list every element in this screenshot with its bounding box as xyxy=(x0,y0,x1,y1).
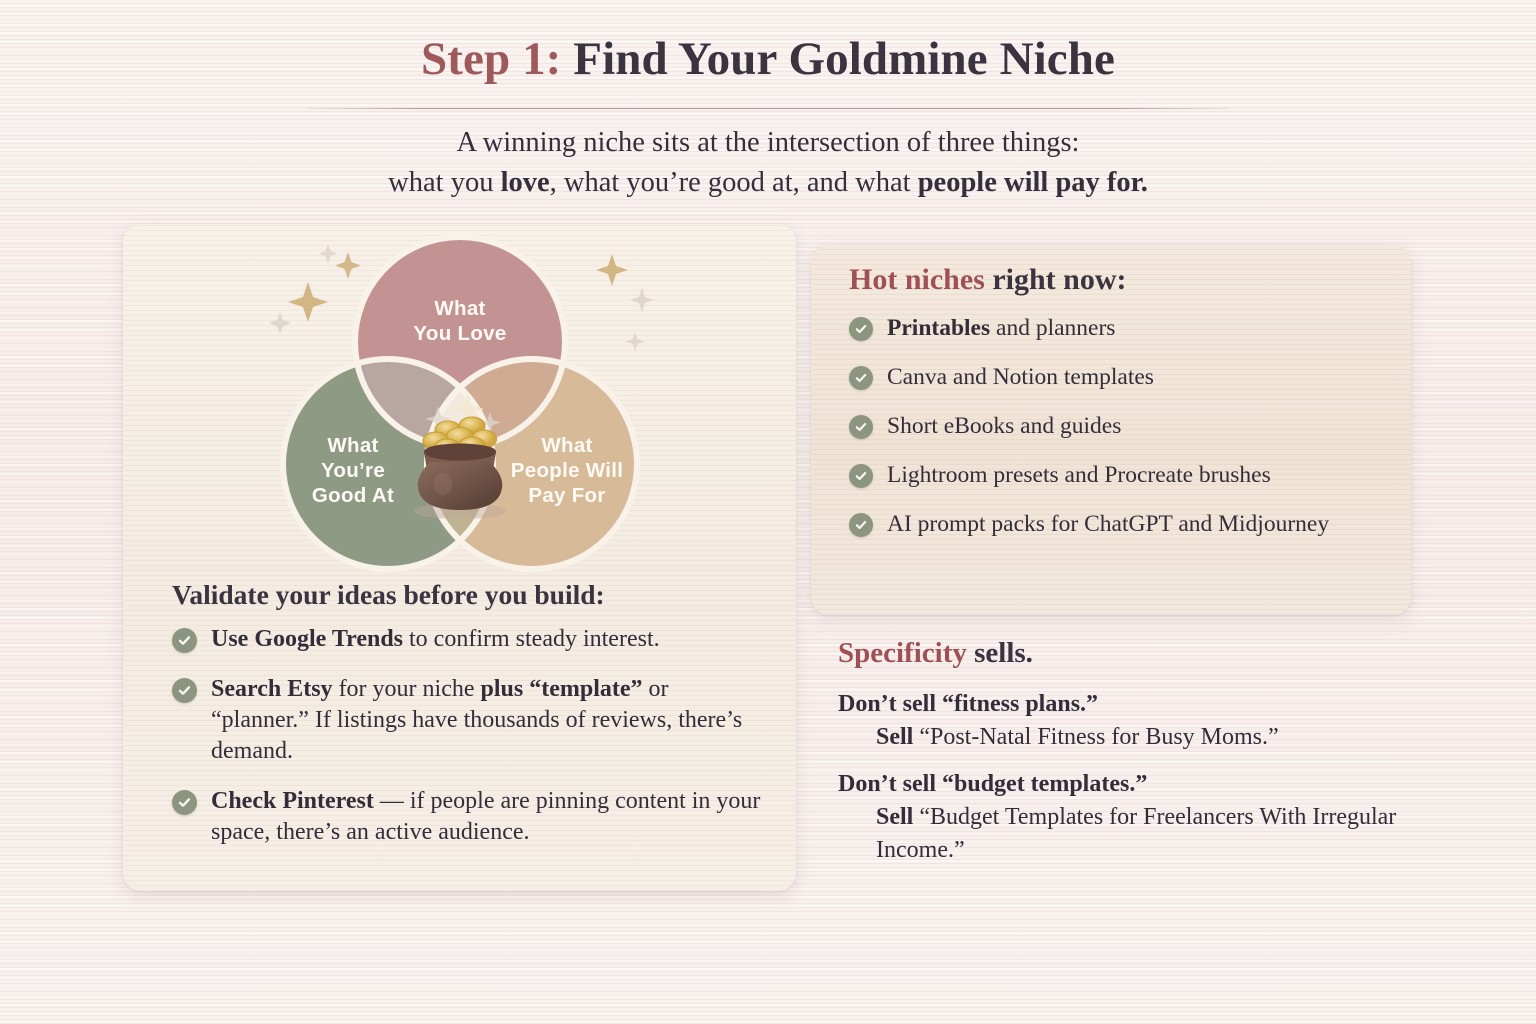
header: Step 1: Find Your Goldmine Niche A winni… xyxy=(0,0,1536,205)
specificity-heading-accent: Specificity xyxy=(838,637,967,669)
venn-diagram: What You Love What You’re Good At What P… xyxy=(123,230,796,580)
check-circle-icon xyxy=(172,790,197,815)
hot-niches-list: Printables and planners Canva and Notion… xyxy=(849,313,1389,558)
check-circle-icon xyxy=(172,628,197,653)
subtitle-line-2: what you love, what you’re good at, and … xyxy=(0,163,1536,203)
check-circle-icon xyxy=(849,366,873,390)
list-item-text: Lightroom presets and Procreate brushes xyxy=(887,460,1271,491)
list-item-rest: Lightroom presets and Procreate brushes xyxy=(887,462,1271,488)
specificity-sell: Sell “Post-Natal Fitness for Busy Moms.” xyxy=(838,721,1458,754)
list-item-bold: Printables xyxy=(887,315,990,341)
list-item-text: AI prompt packs for ChatGPT and Midjourn… xyxy=(887,509,1329,540)
venn-label-goodat-line3: Good At xyxy=(311,484,393,507)
venn-label-love-line1: What xyxy=(434,297,485,320)
list-item-text: Use Google Trends to confirm steady inte… xyxy=(211,624,660,655)
specificity-sell: Sell “Budget Templates for Freelancers W… xyxy=(838,801,1458,867)
specificity-heading: Specificity sells. xyxy=(838,637,1458,670)
validate-heading: Validate your ideas before you build: xyxy=(172,579,605,611)
list-item-bold: Check Pinterest xyxy=(211,788,374,814)
specificity-heading-rest: sells. xyxy=(967,637,1033,669)
specificity-dont: Don’t sell “budget templates.” xyxy=(838,768,1458,801)
list-item: Search Etsy for your niche plus “templat… xyxy=(172,674,772,767)
venn-label-payfor-line2: People Will xyxy=(510,459,622,482)
list-item-rest: Short eBooks and guides xyxy=(887,413,1121,439)
subtitle-seg-love: love xyxy=(501,167,550,198)
specificity-sell-text: “Post-Natal Fitness for Busy Moms.” xyxy=(913,724,1278,750)
specificity-block: Don’t sell “budget templates.” Sell “Bud… xyxy=(838,768,1458,867)
list-item: Short eBooks and guides xyxy=(849,411,1389,442)
page-title-step: Step 1: xyxy=(421,33,561,85)
specificity-block: Don’t sell “fitness plans.” Sell “Post-N… xyxy=(838,688,1458,754)
list-item-bold: Use Google Trends xyxy=(211,626,403,652)
list-item-text: Printables and planners xyxy=(887,313,1115,344)
hot-niches-card: Hot niches right now: Printables and pla… xyxy=(811,245,1411,615)
list-item-bold-2: plus “template” xyxy=(481,676,643,702)
venn-label-love-line2: You Love xyxy=(413,322,506,345)
list-item: Printables and planners xyxy=(849,313,1389,344)
list-item-mid: for your niche xyxy=(333,676,481,702)
check-circle-icon xyxy=(849,513,873,537)
subtitle-seg-a: what you xyxy=(388,167,500,198)
subtitle-line-1: A winning niche sits at the intersection… xyxy=(0,123,1536,163)
specificity-dont: Don’t sell “fitness plans.” xyxy=(838,688,1458,721)
subtitle-seg-b: , what you’re good at, and what xyxy=(550,167,918,198)
page-title-rest: Find Your Goldmine Niche xyxy=(561,33,1115,85)
list-item-rest: Canva and Notion templates xyxy=(887,364,1154,390)
venn-label-goodat-line2: You’re xyxy=(320,459,384,482)
list-item: Check Pinterest — if people are pinning … xyxy=(172,786,772,848)
venn-and-validate-card: What You Love What You’re Good At What P… xyxy=(123,224,796,891)
list-item: AI prompt packs for ChatGPT and Midjourn… xyxy=(849,509,1389,540)
list-item-rest: to confirm steady interest. xyxy=(403,626,660,652)
hot-niches-heading-rest: right now: xyxy=(985,263,1127,296)
subtitle: A winning niche sits at the intersection… xyxy=(0,123,1536,203)
specificity-sell-text: “Budget Templates for Freelancers With I… xyxy=(876,804,1396,863)
list-item-rest: and planners xyxy=(990,315,1115,341)
hot-niches-heading-accent: Hot niches xyxy=(849,263,985,296)
check-circle-icon xyxy=(172,678,197,703)
list-item-rest: AI prompt packs for ChatGPT and Midjourn… xyxy=(887,511,1329,537)
check-circle-icon xyxy=(849,415,873,439)
list-item-text: Search Etsy for your niche plus “templat… xyxy=(211,674,772,767)
list-item: Lightroom presets and Procreate brushes xyxy=(849,460,1389,491)
specificity-sell-label: Sell xyxy=(876,724,913,750)
subtitle-seg-bold: people will pay for. xyxy=(918,167,1148,198)
venn-label-goodat-line1: What xyxy=(327,434,378,457)
specificity-section: Specificity sells. Don’t sell “fitness p… xyxy=(838,637,1458,881)
check-circle-icon xyxy=(849,317,873,341)
venn-label-payfor-line3: Pay For xyxy=(528,484,605,507)
list-item-text: Canva and Notion templates xyxy=(887,362,1154,393)
page-title: Step 1: Find Your Goldmine Niche xyxy=(0,32,1536,86)
list-item: Use Google Trends to confirm steady inte… xyxy=(172,624,772,655)
list-item: Canva and Notion templates xyxy=(849,362,1389,393)
venn-label-payfor-line1: What xyxy=(541,434,592,457)
list-item-text: Short eBooks and guides xyxy=(887,411,1121,442)
title-divider xyxy=(307,108,1229,109)
specificity-sell-label: Sell xyxy=(876,804,913,830)
hot-niches-heading: Hot niches right now: xyxy=(849,263,1127,297)
validate-list: Use Google Trends to confirm steady inte… xyxy=(172,624,772,867)
list-item-bold: Search Etsy xyxy=(211,676,333,702)
venn-svg: What You Love What You’re Good At What P… xyxy=(240,230,680,578)
list-item-text: Check Pinterest — if people are pinning … xyxy=(211,786,772,848)
check-circle-icon xyxy=(849,464,873,488)
